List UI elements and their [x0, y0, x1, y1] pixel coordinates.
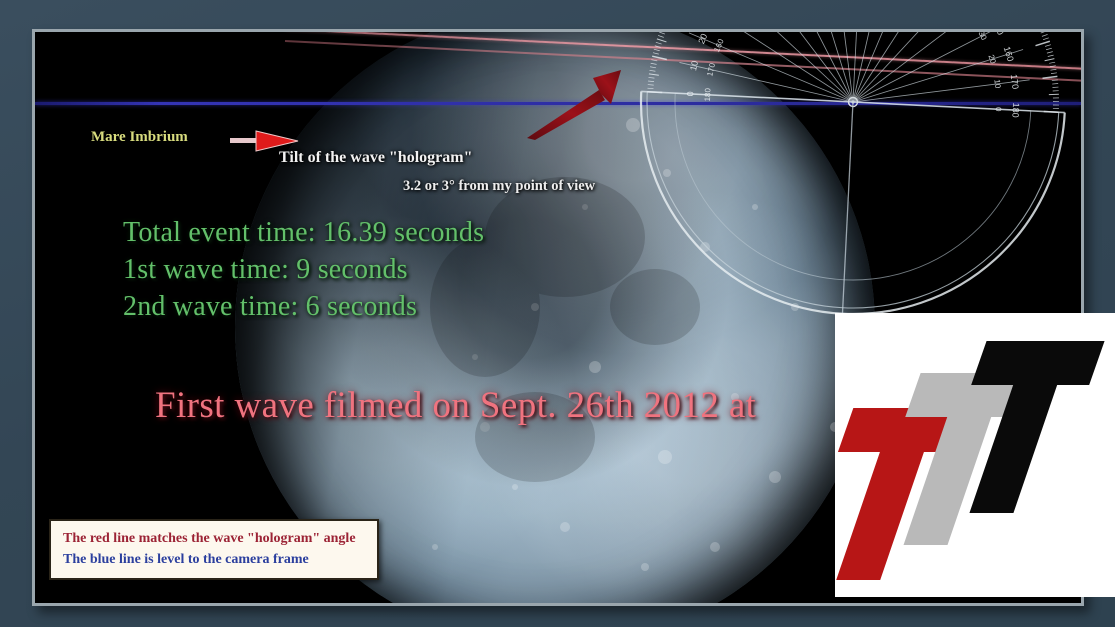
stat-first-wave-time: 1st wave time: 9 seconds [123, 251, 484, 288]
angle-value-label: 3.2 or 3° from my point of view [403, 178, 595, 195]
ttt-logo [835, 313, 1115, 597]
svg-text:150: 150 [990, 32, 1006, 37]
caption-red-line: The red line matches the wave "hologram"… [63, 528, 367, 549]
svg-text:10: 10 [992, 79, 1002, 89]
event-timing-stats: Total event time: 16.39 seconds 1st wave… [123, 214, 484, 326]
mare-imbrium-label: Mare Imbrium [91, 129, 188, 146]
headline-text: First wave filmed on Sept. 26th 2012 at [155, 384, 756, 427]
tilt-arrow-icon [525, 60, 655, 140]
stat-total-event-time: Total event time: 16.39 seconds [123, 214, 484, 251]
svg-text:0: 0 [994, 107, 1003, 112]
logo-panel [835, 313, 1115, 597]
svg-text:30: 30 [976, 32, 988, 42]
caption-blue-line: The blue line is level to the camera fra… [63, 549, 367, 570]
legend-caption-box: The red line matches the wave "hologram"… [49, 519, 379, 580]
tilt-hologram-label: Tilt of the wave "hologram" [279, 149, 472, 167]
stat-second-wave-time: 2nd wave time: 6 seconds [123, 288, 484, 325]
screen-root: 0180101702016030150401405013060120701108… [0, 0, 1115, 627]
svg-text:160: 160 [1002, 45, 1016, 62]
